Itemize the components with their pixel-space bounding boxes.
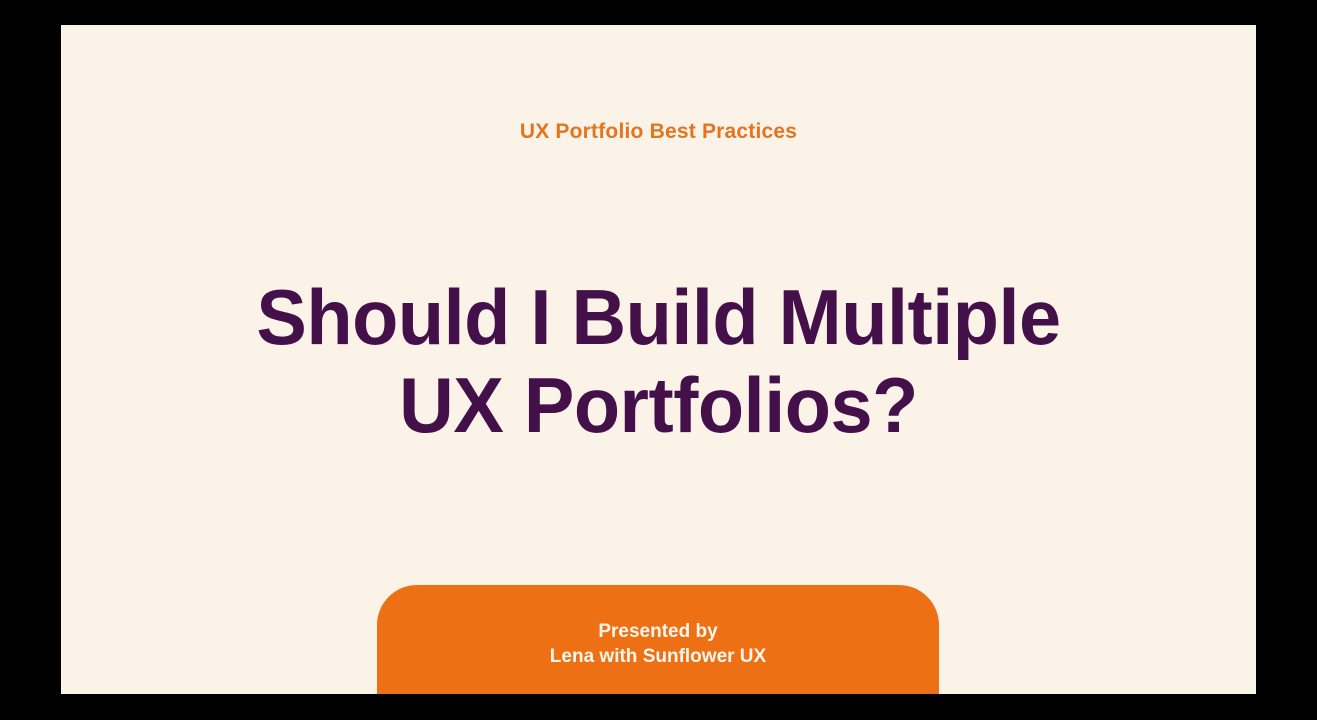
presenter-credit: Presented by Lena with Sunflower UX	[377, 619, 939, 669]
slide-kicker: UX Portfolio Best Practices	[61, 119, 1256, 145]
presenter-name: Lena with Sunflower UX	[377, 644, 939, 669]
presentation-slide: UX Portfolio Best Practices Should I Bui…	[61, 25, 1256, 694]
headline-line-2: UX Portfolios?	[79, 361, 1238, 449]
presented-by-label: Presented by	[377, 619, 939, 644]
presenter-plaque: Presented by Lena with Sunflower UX	[377, 585, 939, 694]
slide-headline: Should I Build Multiple UX Portfolios?	[79, 273, 1238, 449]
headline-line-1: Should I Build Multiple	[79, 273, 1238, 361]
video-letterbox-frame: UX Portfolio Best Practices Should I Bui…	[0, 0, 1317, 720]
